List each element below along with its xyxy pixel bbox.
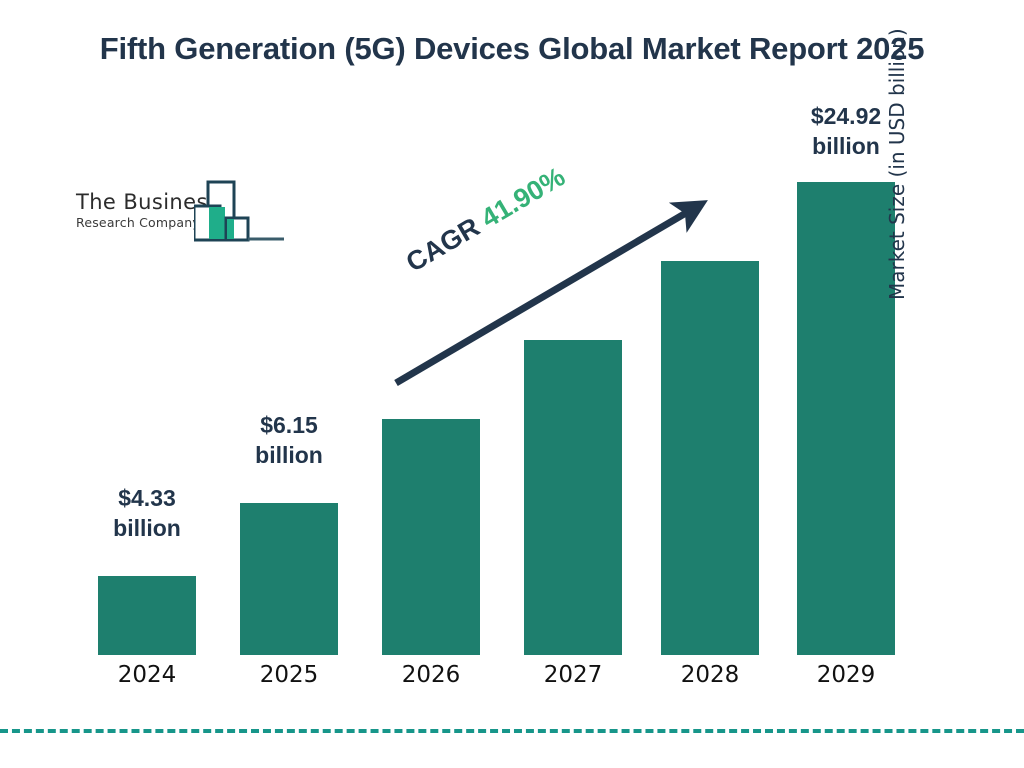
bar-value-2024: $4.33 billion (78, 483, 216, 544)
tick-label-2028: 2028 (661, 662, 759, 688)
cagr-value: 41.90% (476, 161, 570, 233)
cagr-word: CAGR (401, 212, 485, 278)
bar-value-2025: $6.15 billion (220, 410, 358, 471)
bar-2027 (524, 340, 622, 655)
bar-2028 (661, 261, 759, 655)
bar-2029 (797, 182, 895, 655)
tick-label-2025: 2025 (240, 662, 338, 688)
bar-2026 (382, 419, 480, 655)
y-axis-title: Market Size (in USD billion) (885, 0, 909, 300)
bar-chart: $4.33 billion $6.15 billion $24.92 billi… (0, 0, 1024, 768)
footer-divider (0, 729, 1024, 733)
bar-2025 (240, 503, 338, 655)
tick-label-2024: 2024 (98, 662, 196, 688)
tick-label-2029: 2029 (797, 662, 895, 688)
tick-label-2027: 2027 (524, 662, 622, 688)
cagr-annotation: CAGR 41.90% (401, 161, 571, 278)
bar-2024 (98, 576, 196, 655)
tick-label-2026: 2026 (382, 662, 480, 688)
